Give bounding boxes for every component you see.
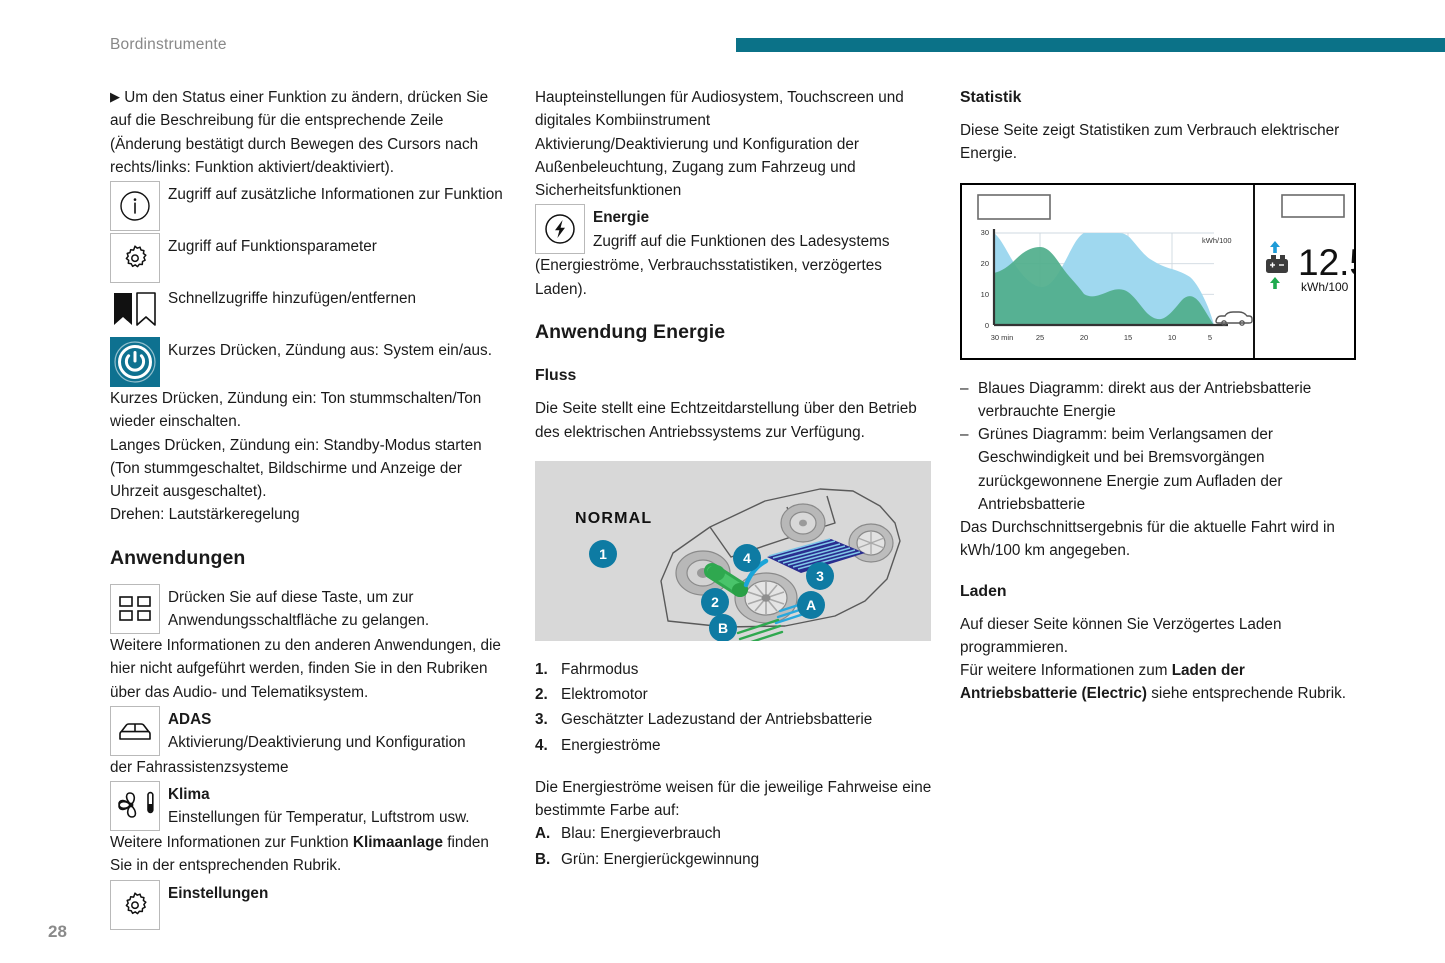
klima-description: Einstellungen für Temperatur, Luftstrom … (168, 809, 470, 826)
apps-grid-icon-box (110, 584, 160, 634)
svg-text:20: 20 (981, 259, 989, 268)
svg-text:15: 15 (1124, 333, 1132, 342)
manual-page: Bordinstrumente ▶ Um den Status einer Fu… (0, 0, 1445, 963)
drive-mode-label: NORMAL (575, 510, 652, 527)
svg-text:4: 4 (743, 550, 751, 566)
list-item: 4.Energieströme (535, 734, 935, 757)
icon-row-einstellungen: Einstellungen (110, 880, 510, 930)
fluss-paragraph: Die Seite stellt eine Echtzeitdarstellun… (535, 397, 935, 444)
apps-grid-icon-text: Drücken Sie auf diese Taste, um zur Anwe… (168, 584, 510, 633)
power-icon-text: Kurzes Drücken, Zündung aus: System ein/… (168, 337, 510, 362)
list-item-text: Elektromotor (561, 683, 935, 706)
klima-icon-box (110, 781, 160, 831)
energie-icon-box (535, 204, 585, 254)
list-item-number: 2. (535, 683, 561, 706)
page-header: Bordinstrumente (0, 0, 1445, 70)
einstellungen-icon-box (110, 880, 160, 930)
power-paragraph-3: Drehen: Lautstärkeregelung (110, 503, 510, 526)
list-item-text: Grün: Energierückgewinnung (561, 848, 935, 871)
laden-paragraph-2: Für weitere Informationen zum Laden der … (960, 659, 1360, 706)
list-item-letter: A. (535, 822, 561, 845)
list-item-number: 4. (535, 734, 561, 757)
list-item-text: Geschätzter Ladezustand der Antriebsbatt… (561, 708, 935, 731)
subheading-fluss: Fluss (535, 364, 935, 388)
list-item: –Grünes Diagramm: beim Verlangsamen der … (960, 423, 1360, 516)
power-paragraph-1: Kurzes Drücken, Zündung ein: Ton stummsc… (110, 387, 510, 434)
laden-pre: Für weitere Informationen zum (960, 662, 1172, 679)
letter-legend-list: A.Blau: Energieverbrauch B.Grün: Energie… (535, 822, 935, 871)
marker-1: 1 (589, 540, 617, 568)
icon-row-adas: ADAS Aktivierung/Deaktivierung und Konfi… (110, 706, 510, 756)
svg-text:B: B (718, 620, 728, 636)
apps-grid-icon (117, 594, 153, 624)
bookmark-icon (111, 291, 159, 329)
statistics-screen-figure: 30 20 10 0 30 min 25 20 15 10 5 kWh/100 (960, 183, 1356, 360)
svg-text:20: 20 (1080, 333, 1088, 342)
apps-paragraph: Weitere Informationen zu den anderen Anw… (110, 634, 510, 704)
adas-continuation: der Fahrassistenzsysteme (110, 756, 510, 779)
energie-continuation: (Energieströme, Verbrauchsstatistiken, v… (535, 254, 935, 301)
klima-icon-text: Klima Einstellungen für Temperatur, Luft… (168, 781, 510, 830)
power-icon (113, 340, 157, 384)
list-item: A.Blau: Energieverbrauch (535, 822, 935, 845)
adas-icon-text: ADAS Aktivierung/Deaktivierung und Konfi… (168, 706, 510, 755)
klima-title: Klima (168, 783, 510, 806)
laden-post: siehe entsprechende Rubrik. (1147, 685, 1346, 702)
svg-text:3: 3 (816, 568, 824, 584)
adas-description: Aktivierung/Deaktivierung und Konfigurat… (168, 734, 466, 751)
triangle-bullet-icon: ▶ (110, 89, 120, 104)
subheading-statistik: Statistik (960, 86, 1360, 110)
klima-cont-bold: Klimaanlage (353, 834, 443, 851)
svg-text:0: 0 (985, 321, 989, 330)
energie-icon-text: Energie Zugriff auf die Funktionen des L… (593, 204, 935, 253)
marker-a: A (797, 591, 825, 619)
list-item-text: Energieströme (561, 734, 935, 757)
fan-thermometer-icon (115, 789, 155, 823)
statistik-paragraph: Diese Seite zeigt Statistiken zum Verbra… (960, 119, 1360, 166)
list-item: 3.Geschätzter Ladezustand der Antriebsba… (535, 708, 935, 731)
info-icon-text: Zugriff auf zusätzliche Informationen zu… (168, 181, 510, 206)
flows-paragraph: Die Energieströme weisen für die jeweili… (535, 776, 935, 823)
adas-title: ADAS (168, 708, 510, 731)
page-number: 28 (48, 922, 67, 942)
power-paragraph-2: Langes Drücken, Zündung ein: Standby-Mod… (110, 434, 510, 504)
header-section-title: Bordinstrumente (110, 36, 227, 54)
energie-title: Energie (593, 206, 935, 229)
average-value: 12.5 (1298, 242, 1354, 283)
average-unit: kWh/100 (1301, 280, 1349, 294)
column-left: ▶ Um den Status einer Funktion zu ändern… (110, 86, 510, 930)
icon-row-power: Kurzes Drücken, Zündung aus: System ein/… (110, 337, 510, 387)
numbered-legend-list: 1.Fahrmodus 2.Elektromotor 3.Geschätzter… (535, 658, 935, 757)
list-item-text: Fahrmodus (561, 658, 935, 681)
dash-bullet: – (960, 377, 978, 424)
chart-annotation: kWh/100 (1202, 236, 1232, 245)
icon-row-bookmark: Schnellzugriffe hinzufügen/entfernen (110, 285, 510, 335)
icon-row-apps: Drücken Sie auf diese Taste, um zur Anwe… (110, 584, 510, 634)
icon-row-energie: Energie Zugriff auf die Funktionen des L… (535, 204, 935, 254)
svg-text:A: A (806, 597, 816, 613)
car-front-icon (116, 718, 154, 744)
gear-icon-box (110, 233, 160, 283)
svg-text:1: 1 (599, 546, 607, 562)
list-item: B.Grün: Energierückgewinnung (535, 848, 935, 871)
icon-row-klima: Klima Einstellungen für Temperatur, Luft… (110, 781, 510, 831)
settings-paragraph-2: Aktivierung/Deaktivierung und Konfigurat… (535, 133, 935, 203)
gear-icon (118, 241, 152, 275)
lightning-bolt-icon (542, 211, 578, 247)
average-paragraph: Das Durchschnittsergebnis für die aktuel… (960, 516, 1360, 563)
info-icon (118, 189, 152, 223)
list-item-text: Blaues Diagramm: direkt aus der Antriebs… (978, 377, 1360, 424)
subheading-laden: Laden (960, 580, 1360, 604)
einstellungen-title: Einstellungen (168, 882, 510, 905)
svg-text:30: 30 (981, 228, 989, 237)
einstellungen-icon-text: Einstellungen (168, 880, 510, 905)
list-item: 1.Fahrmodus (535, 658, 935, 681)
adas-icon-box (110, 706, 160, 756)
bookmark-icon-box (110, 285, 160, 335)
diagram-color-legend: –Blaues Diagramm: direkt aus der Antrieb… (960, 377, 1360, 517)
statistics-chart: 30 20 10 0 30 min 25 20 15 10 5 kWh/100 (962, 185, 1354, 358)
marker-4: 4 (733, 544, 761, 572)
section-heading-anwendungen: Anwendungen (110, 544, 510, 574)
svg-text:30 min: 30 min (991, 333, 1014, 342)
gear-icon-text: Zugriff auf Funktionsparameter (168, 233, 510, 258)
intro-bullet-text: Um den Status einer Funktion zu ändern, … (110, 89, 488, 176)
wheel-front-right (849, 524, 893, 562)
car-energy-flow-illustration: NORMAL 1 2 3 4 A B (535, 461, 931, 641)
list-item-letter: B. (535, 848, 561, 871)
klima-continuation: Weitere Informationen zur Funktion Klima… (110, 831, 510, 878)
wheel-front-left (735, 573, 797, 623)
klima-cont-pre: Weitere Informationen zur Funktion (110, 834, 353, 851)
header-accent-bar (736, 38, 1445, 52)
list-item-text: Blau: Energieverbrauch (561, 822, 935, 845)
section-heading-anwendung-energie: Anwendung Energie (535, 318, 935, 348)
info-icon-box (110, 181, 160, 231)
list-item-number: 1. (535, 658, 561, 681)
icon-row-info: Zugriff auf zusätzliche Informationen zu… (110, 181, 510, 231)
bookmark-icon-text: Schnellzugriffe hinzufügen/entfernen (168, 285, 510, 310)
marker-3: 3 (806, 562, 834, 590)
list-item-number: 3. (535, 708, 561, 731)
intro-bullet-paragraph: ▶ Um den Status einer Funktion zu ändern… (110, 86, 510, 179)
gear-icon (118, 888, 152, 922)
column-middle: Haupteinstellungen für Audiosystem, Touc… (535, 86, 935, 873)
svg-text:5: 5 (1208, 333, 1212, 342)
list-item: –Blaues Diagramm: direkt aus der Antrieb… (960, 377, 1360, 424)
svg-text:25: 25 (1036, 333, 1044, 342)
dash-bullet: – (960, 423, 978, 516)
icon-row-gear: Zugriff auf Funktionsparameter (110, 233, 510, 283)
settings-paragraph-1: Haupteinstellungen für Audiosystem, Touc… (535, 86, 935, 133)
laden-paragraph-1: Auf dieser Seite können Sie Verzögertes … (960, 613, 1360, 660)
power-icon-box (110, 337, 160, 387)
svg-text:2: 2 (711, 594, 719, 610)
marker-b: B (709, 614, 737, 641)
svg-text:10: 10 (981, 290, 989, 299)
list-item-text: Grünes Diagramm: beim Verlangsamen der G… (978, 423, 1360, 516)
column-right: Statistik Diese Seite zeigt Statistiken … (960, 86, 1360, 706)
marker-2: 2 (701, 588, 729, 616)
energy-flow-figure: NORMAL 1 2 3 4 A B (535, 461, 931, 641)
svg-text:10: 10 (1168, 333, 1176, 342)
energie-description: Zugriff auf die Funktionen des Ladesyste… (593, 233, 889, 250)
list-item: 2.Elektromotor (535, 683, 935, 706)
wheel-rear-right (781, 504, 825, 542)
